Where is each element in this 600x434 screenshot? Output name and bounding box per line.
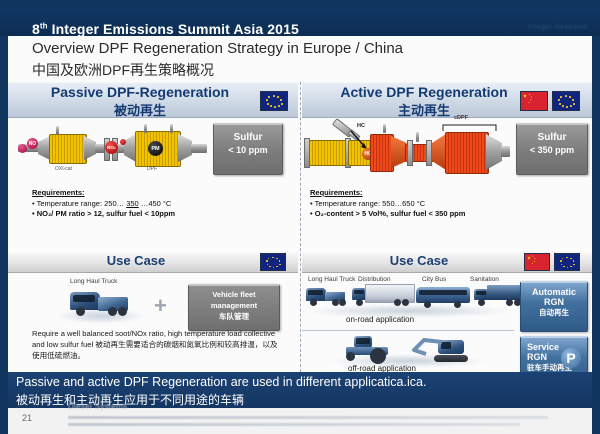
pm-bubble: PM [148, 141, 163, 156]
right-req-item-1: • Temperature range: 550…650 °C [310, 199, 465, 208]
eu-flag-icon-right [552, 91, 580, 111]
eu-flag-icon-usecase-right [554, 253, 580, 271]
left-requirements: Requirements: • Temperature range: 250… … [32, 188, 175, 219]
left-req-heading: Requirements: [32, 188, 175, 197]
cn-flag-icon-usecase [524, 253, 550, 271]
right-header-cn: 主动再生 [302, 100, 592, 119]
conclusion-line-cn: 被动再生和主动再生应用于不同用途的车辆 [16, 391, 244, 408]
onroad-application-label: on-road application [346, 315, 414, 324]
dpf-label: DPF [147, 166, 157, 172]
distribution-truck-icon [352, 284, 414, 310]
left-sulfur-line1: Sulfur [214, 132, 282, 145]
cn-flag-icon [520, 91, 548, 111]
eu-flag-icon [260, 91, 288, 111]
application-separator [302, 330, 514, 331]
brand-ghost-text: Diesel Systems [68, 402, 127, 411]
no-bubble-2 [18, 144, 27, 153]
no2-bubble-small [120, 139, 126, 145]
left-req-item-1c: …450 °C [139, 199, 172, 208]
left-req-item-2: • NO₂/ PM ratio > 12, sulfur fuel < 10pp… [32, 209, 175, 218]
presentation-header-bar: 8th Integer Emissions Summit Asia 2015 I… [0, 8, 600, 36]
auto-box-line1: Automatic [521, 287, 587, 297]
left-column-header: Passive DPF-Regeneration 被动再生 [8, 82, 298, 118]
oxicat-label: OXI-cat [55, 166, 72, 172]
active-dpf-diagram: HC HC cDPF [304, 118, 510, 180]
conclusion-line-en: Passive and active DPF Regeneration are … [16, 375, 426, 389]
left-req-item-1b: 350 [126, 199, 139, 208]
right-sulfur-line1: Sulfur [517, 132, 587, 145]
automatic-rgn-box: Automatic RGN 自动再生 [520, 281, 588, 332]
cdpf-bracket-icon [442, 122, 498, 132]
legal-fineprint-line-2 [68, 423, 520, 426]
fleet-box-line1: Vehicle fleet [189, 290, 279, 301]
header-watermark: Integer Research [528, 24, 588, 31]
fleet-management-box: Vehicle fleet management 车队管理 [188, 284, 280, 331]
column-divider [300, 82, 301, 372]
no-bubble: NO [27, 138, 38, 149]
right-req-item-2: • O₂-content > 5 Vol%, sulfur fuel < 350… [310, 209, 465, 218]
no2-bubble: NO₂ [105, 141, 118, 154]
tractor-icon [344, 336, 392, 364]
right-req-heading: Requirements: [310, 188, 465, 197]
long-haul-truck-icon-right [304, 286, 348, 310]
right-use-case-bar: Use Case [302, 249, 592, 273]
left-truck-caption: Long Haul Truck [70, 278, 117, 285]
legal-fineprint-line-1 [68, 416, 548, 419]
right-caption-sanitation: Sanitation [470, 276, 499, 283]
left-sulfur-box: Sulfur < 10 ppm [213, 123, 283, 175]
left-sulfur-line2: < 10 ppm [214, 145, 282, 156]
right-caption-city-bus: City Bus [422, 276, 446, 283]
cdpf-label: cDPF [454, 115, 468, 121]
right-sulfur-line2: < 350 ppm [517, 145, 587, 156]
right-header-en: Active DPF Regeneration [302, 84, 592, 100]
presentation-title-prefix: 8 [32, 21, 40, 37]
right-caption-long-haul: Long Haul Truck [308, 276, 355, 283]
excavator-icon [412, 336, 470, 364]
parking-badge-icon: P [561, 348, 581, 368]
right-caption-distribution: Distribution [358, 276, 391, 283]
right-requirements: Requirements: • Temperature range: 550…6… [310, 188, 465, 219]
hc-label: HC [357, 123, 365, 129]
left-header-cn: 被动再生 [8, 100, 298, 119]
long-haul-truck-icon [64, 288, 140, 318]
city-bus-icon [416, 286, 472, 310]
right-column-header: Active DPF Regeneration 主动再生 [302, 82, 592, 118]
fleet-box-line3: 车队管理 [189, 312, 279, 323]
page-number: 21 [22, 413, 32, 423]
eu-flag-icon-usecase [260, 253, 286, 271]
left-req-item-1: • Temperature range: 250… 350 …450 °C [32, 199, 175, 208]
passive-dpf-diagram: NO NO₂ PM OXI-cat DPF [18, 120, 208, 178]
sanitation-truck-icon [474, 284, 524, 310]
slide-title-cn: 中国及欧洲DPF再生策略概况 [32, 60, 214, 80]
auto-box-line3: 自动再生 [521, 308, 587, 318]
doc-brick [309, 140, 349, 166]
right-sulfur-box: Sulfur < 350 ppm [516, 123, 588, 175]
left-description: Require a well balanced soot/NOx ratio, … [32, 328, 284, 361]
presentation-title-rest: Integer Emissions Summit Asia 2015 [48, 21, 299, 37]
slide-root: 8th Integer Emissions Summit Asia 2015 I… [0, 0, 600, 434]
excavator-arm-icon [412, 338, 446, 360]
left-use-case-label: Use Case [8, 253, 298, 268]
eu-stars [261, 92, 287, 110]
red-catalyst [370, 134, 394, 172]
left-req-item-1a: • Temperature range: 250… [32, 199, 126, 208]
plus-sign: + [154, 295, 167, 317]
left-header-en: Passive DPF-Regeneration [8, 84, 298, 100]
left-use-case-bar: Use Case [8, 249, 298, 273]
slide-title-en: Overview DPF Regeneration Strategy in Eu… [32, 40, 403, 57]
fleet-box-line2: management [189, 301, 279, 312]
auto-box-line2: RGN [521, 297, 587, 307]
slide-footer: Diesel Systems 21 [8, 408, 592, 434]
eu-stars-right [553, 92, 579, 110]
presentation-title-ordinal: th [40, 21, 48, 30]
cdpf-brick [445, 132, 489, 174]
presentation-title: 8th Integer Emissions Summit Asia 2015 [32, 21, 299, 37]
slide-body: Overview DPF Regeneration Strategy in Eu… [8, 36, 592, 372]
oxicat-brick [49, 134, 87, 164]
